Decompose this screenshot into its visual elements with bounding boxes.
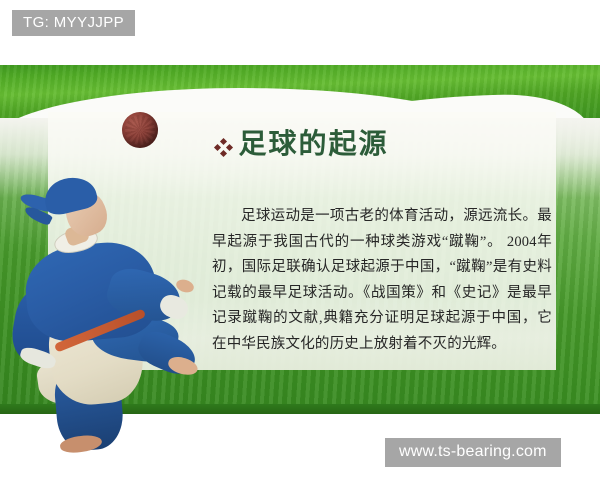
ancient-chinese-cuju-player-illustration <box>8 168 193 408</box>
tag-badge: TG: MYYJJPP <box>12 10 135 36</box>
site-watermark: www.ts-bearing.com <box>385 438 561 467</box>
diamond-cluster-bullet-icon <box>215 139 232 156</box>
slide-title-row: 足球的起源 <box>48 130 556 161</box>
slide-body-text: 足球运动是一项古老的体育活动，源远流长。最早起源于我国古代的一种球类游戏“蹴鞠”… <box>212 204 552 357</box>
presentation-slide: 足球的起源 足球运动是一项古老的体育活动，源远流长。最早起源于我国古代的一种球类… <box>0 0 600 480</box>
page-title: 足球的起源 <box>238 130 388 161</box>
